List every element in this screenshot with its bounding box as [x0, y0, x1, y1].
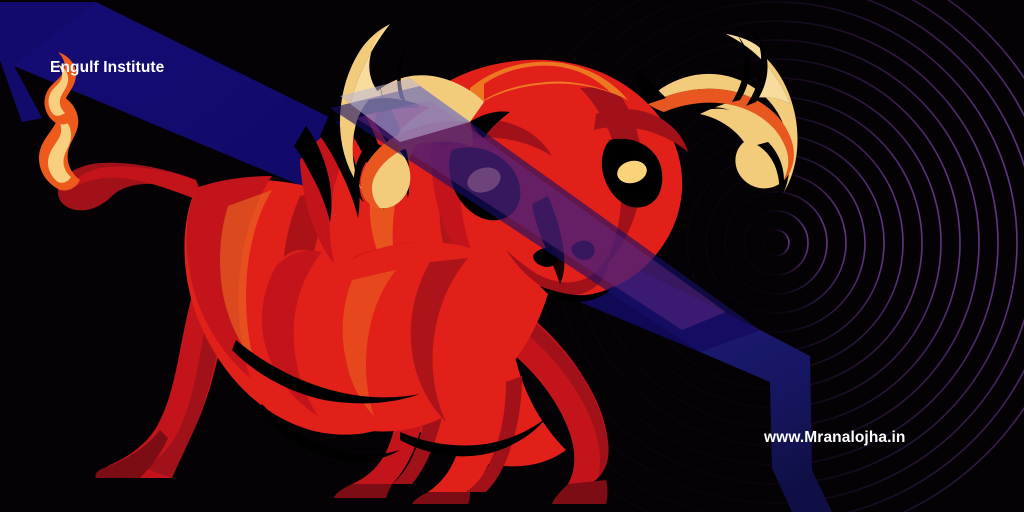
- option-trading-banner: Engulf Institute OPTION TRADING "Master …: [0, 0, 1024, 512]
- brand-name: Engulf Institute: [50, 59, 164, 77]
- website-url[interactable]: www.Mranalojha.in: [764, 429, 906, 447]
- bull-tail: [58, 163, 206, 211]
